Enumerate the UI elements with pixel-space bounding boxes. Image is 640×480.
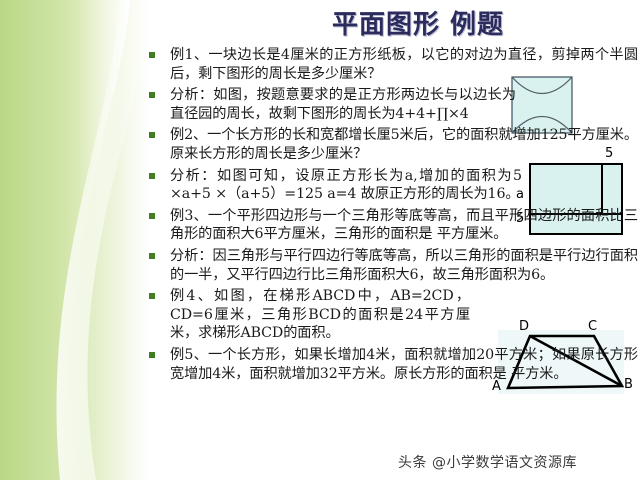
- analysis-2-text: 分析：如图可知，设原正方形长为a,增加的面积为5 ×a+5 ×（a+5）=125…: [170, 167, 522, 204]
- example-3-text: 例3、一个平形四边形与一个三角形等底等高，而且平形四边形的面积比三角形的面积大6…: [170, 207, 638, 244]
- list-item-analysis-1: 分析：如图，按题意要求的是正方形两边长与以边长为直径园的周长，故剩下图形的周长为…: [146, 86, 638, 123]
- list-item-example-3: 例3、一个平形四边形与一个三角形等底等高，而且平形四边形的面积比三角形的面积大6…: [146, 207, 638, 244]
- analysis-1-text: 分析：如图，按题意要求的是正方形两边长与以边长为直径园的周长，故剩下图形的周长为…: [170, 86, 516, 123]
- list-item-example-4: 例4、如图，在梯形ABCD中，AB=2CD，CD=6厘米，三角形BCD的面积是2…: [146, 287, 638, 343]
- list-item-example-5: 例5、一个长方形，如果长增加4米，面积就增加20平方米；如果原长方形宽增加4米，…: [146, 346, 638, 383]
- list-item-analysis-2: 分析：如图可知，设原正方形长为a,增加的面积为5 ×a+5 ×（a+5）=125…: [146, 167, 638, 204]
- bullet-square-icon: [149, 352, 155, 358]
- list-item-example-1: 例1、一块边长是4厘米的正方形纸板，以它的对边为直径，剪掉两个半圆后，剩下图形的…: [146, 46, 638, 83]
- example-2-text: 例2、一个长方形的长和宽都增长厘5米后，它的面积就增加125平方厘米。原来长方形…: [170, 126, 638, 163]
- example-1-text: 例1、一块边长是4厘米的正方形纸板，以它的对边为直径，剪掉两个半圆后，剩下图形的…: [170, 46, 638, 83]
- slide-canvas: 平面图形 例题 5 a 5 A B: [0, 0, 640, 480]
- list-item-example-2: 例2、一个长方形的长和宽都增长厘5米后，它的面积就增加125平方厘米。原来长方形…: [146, 126, 638, 163]
- example-5-text: 例5、一个长方形，如果长增加4米，面积就增加20平方米；如果原长方形宽增加4米，…: [170, 346, 638, 383]
- bullet-square-icon: [149, 92, 155, 98]
- analysis-3-text: 分析：因三角形与平行四边行等底等高，所以三角形的面积是平行边行面积的一半，又平行…: [170, 247, 638, 284]
- bullet-square-icon: [149, 293, 155, 299]
- page-title: 平面图形 例题: [268, 4, 568, 41]
- bullet-square-icon: [149, 213, 155, 219]
- content-bullet-list: 例1、一块边长是4厘米的正方形纸板，以它的对边为直径，剪掉两个半圆后，剩下图形的…: [146, 46, 638, 386]
- example-4-text: 例4、如图，在梯形ABCD中，AB=2CD，CD=6厘米，三角形BCD的面积是2…: [170, 287, 470, 343]
- watermark-text: 头条 @小学数学语文资源库: [398, 452, 577, 472]
- bullet-square-icon: [149, 52, 155, 58]
- bullet-square-icon: [149, 253, 155, 259]
- list-item-analysis-3: 分析：因三角形与平行四边行等底等高，所以三角形的面积是平行边行面积的一半，又平行…: [146, 247, 638, 284]
- bullet-square-icon: [149, 132, 155, 138]
- bullet-square-icon: [149, 173, 155, 179]
